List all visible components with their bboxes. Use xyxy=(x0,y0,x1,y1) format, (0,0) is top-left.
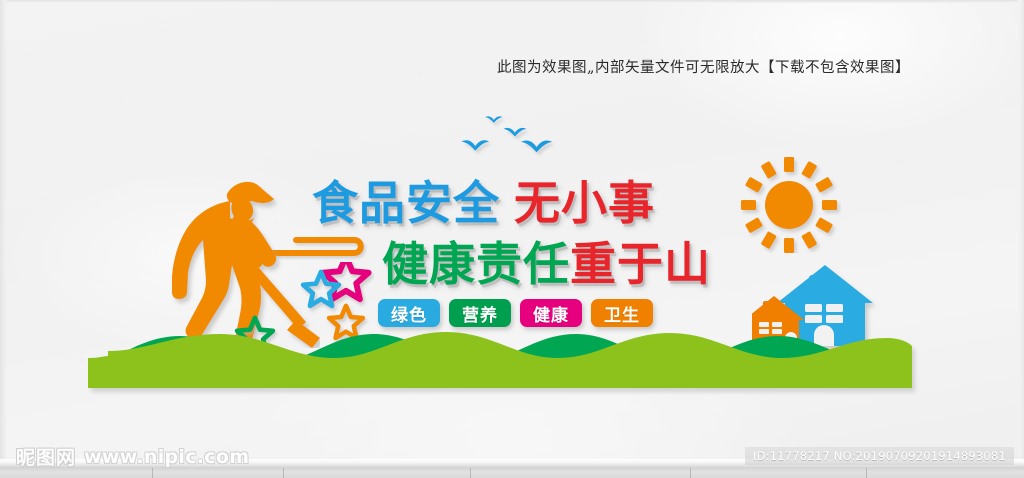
floor-seam xyxy=(690,468,691,478)
headline-line-2: 健康责任重于山 xyxy=(382,241,762,287)
watermark-id-text: ID:11778217 NO:20190709201914893081 xyxy=(745,447,1014,465)
flying-birds xyxy=(456,116,576,164)
floor-seam xyxy=(470,468,471,478)
watermark-brand: 昵图网 www.nipic.com xyxy=(16,443,249,470)
main-headline: 食品安全无小事 健康责任重于山 xyxy=(312,180,762,287)
badge-green-eco[interactable]: 绿色 xyxy=(378,299,440,327)
keyword-badges: 绿色 营养 健康 卫生 xyxy=(378,299,653,327)
grass-hills xyxy=(88,318,920,396)
badge-hygiene[interactable]: 卫生 xyxy=(591,299,653,327)
floor-seam xyxy=(283,468,284,478)
poster-canvas: 此图为效果图„内部矢量文件可无限放大【下载不包含效果图】 xyxy=(0,0,1024,478)
badge-nutrition[interactable]: 营养 xyxy=(449,299,511,327)
headline-heavier-than-mountain: 重于山 xyxy=(570,241,711,287)
disclaimer-text: 此图为效果图„内部矢量文件可无限放大【下载不包含效果图】 xyxy=(497,56,910,77)
badge-health[interactable]: 健康 xyxy=(520,299,582,327)
headline-line-1: 食品安全无小事 xyxy=(312,180,762,226)
watermark-logo-text: 昵图网 xyxy=(16,443,76,470)
wall-right-edge xyxy=(1018,0,1024,462)
wall-top-edge xyxy=(0,0,1024,3)
headline-health-duty: 健康责任 xyxy=(382,241,570,287)
headline-no-small-matter: 无小事 xyxy=(514,180,655,226)
headline-food-safety: 食品安全 xyxy=(312,180,500,226)
floor-seam xyxy=(866,468,867,478)
wall-left-edge xyxy=(0,0,7,462)
watermark-url-text: www.nipic.com xyxy=(84,446,249,468)
